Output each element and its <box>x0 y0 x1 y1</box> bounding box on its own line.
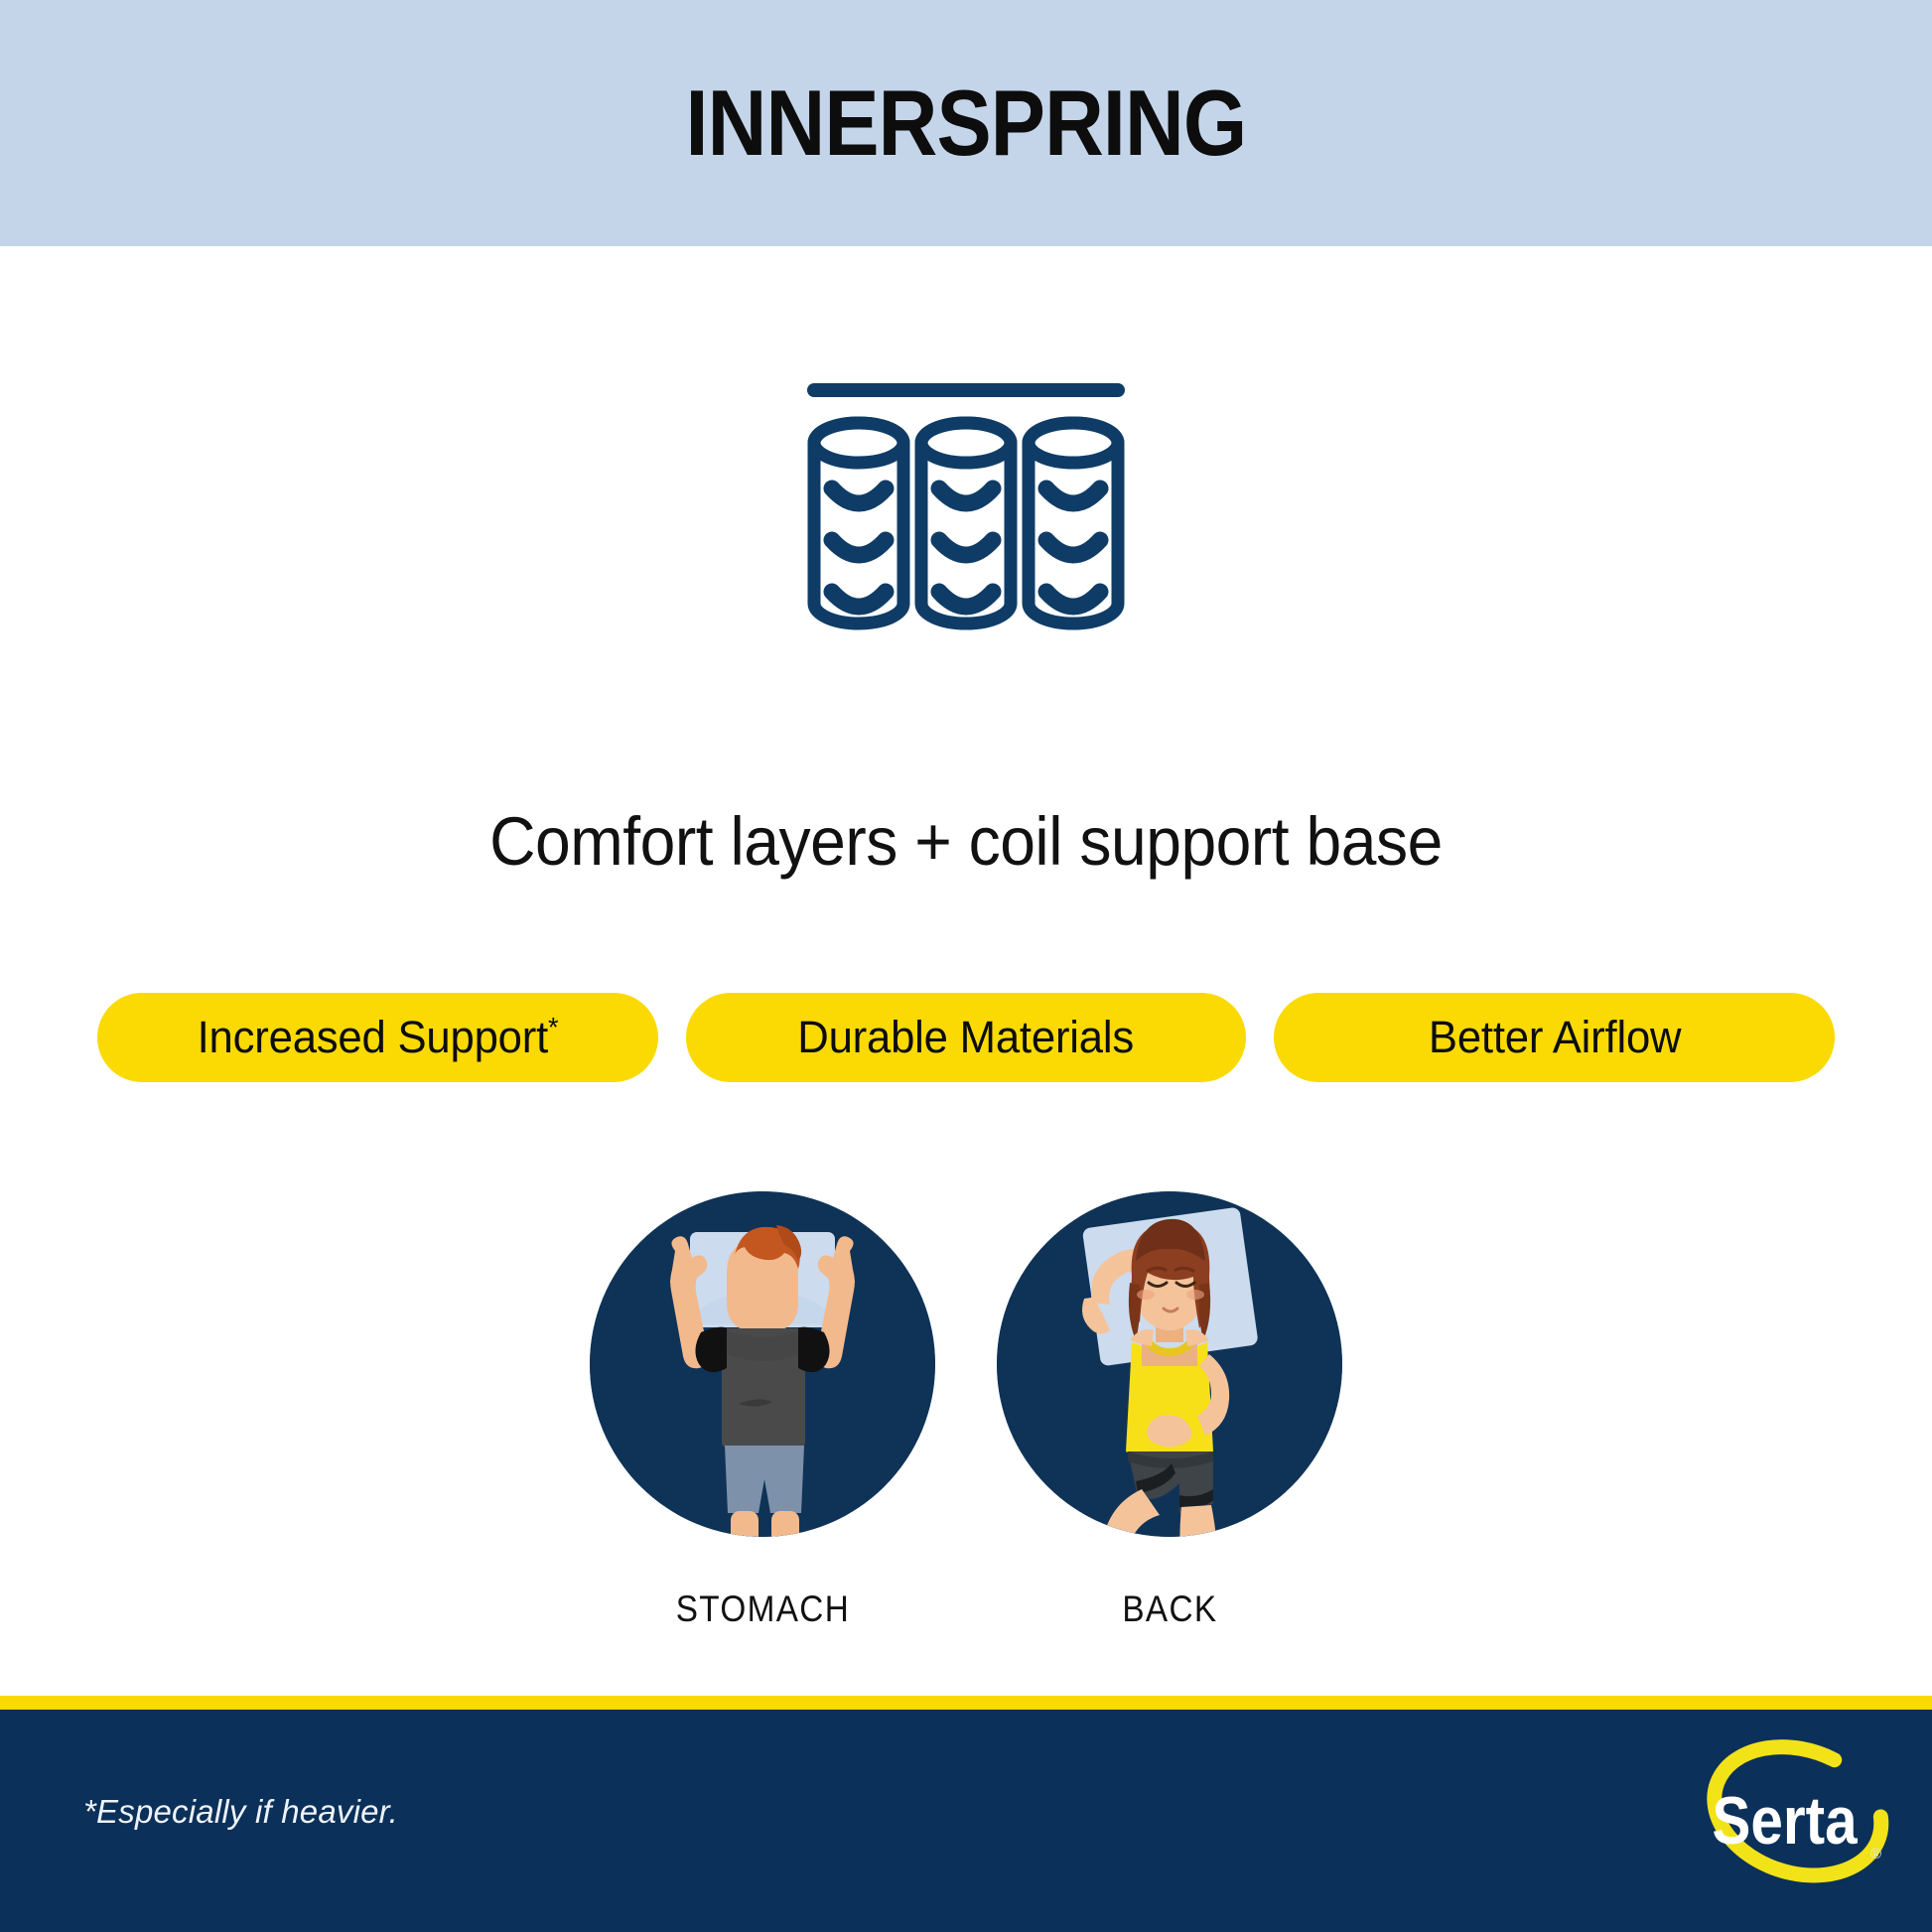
sleep-position-back[interactable]: BACK <box>997 1191 1342 1630</box>
innerspring-infographic: INNERSPRING <box>0 0 1932 1932</box>
position-label-stomach: STOMACH <box>675 1588 849 1630</box>
stomach-sleeper-circle <box>590 1191 935 1537</box>
sleep-positions-row: STOMACH <box>0 1191 1932 1630</box>
header-banner: INNERSPRING <box>0 0 1932 246</box>
coil-2 <box>921 423 1011 623</box>
stomach-sleeper-illustration <box>590 1191 935 1537</box>
footnote-text: *Especially if heavier. <box>83 1793 398 1831</box>
benefits-row: Increased Support* Durable Materials Bet… <box>97 993 1835 1082</box>
footer-accent-stripe <box>0 1696 1932 1710</box>
serta-wordmark: Serta <box>1712 1784 1858 1859</box>
benefit-pill-better-airflow[interactable]: Better Airflow <box>1274 993 1835 1082</box>
sleep-position-stomach[interactable]: STOMACH <box>590 1191 935 1630</box>
serta-trademark: ® <box>1870 1846 1881 1863</box>
benefit-pill-durable-materials[interactable]: Durable Materials <box>686 993 1247 1082</box>
footer: *Especially if heavier. Serta ® <box>0 1710 1932 1932</box>
benefit-label: Better Airflow <box>1428 1012 1680 1062</box>
page-title: INNERSPRING <box>686 69 1247 177</box>
subtitle: Comfort layers + coil support base <box>68 802 1864 881</box>
coil-1 <box>814 423 903 623</box>
coil-3 <box>1029 423 1118 623</box>
benefit-label: Increased Support <box>197 1012 547 1062</box>
back-sleeper-illustration <box>997 1191 1342 1537</box>
serta-logo: Serta ® <box>1666 1731 1914 1915</box>
hero-icon-container <box>0 369 1932 707</box>
innerspring-coils-icon <box>802 369 1130 687</box>
position-label-back: BACK <box>1122 1588 1217 1630</box>
coil-top-bar <box>807 383 1125 397</box>
benefit-pill-increased-support[interactable]: Increased Support* <box>97 993 658 1082</box>
back-sleeper-circle <box>997 1191 1342 1537</box>
benefit-label: Durable Materials <box>798 1012 1135 1062</box>
footnote-marker: * <box>548 1012 558 1042</box>
